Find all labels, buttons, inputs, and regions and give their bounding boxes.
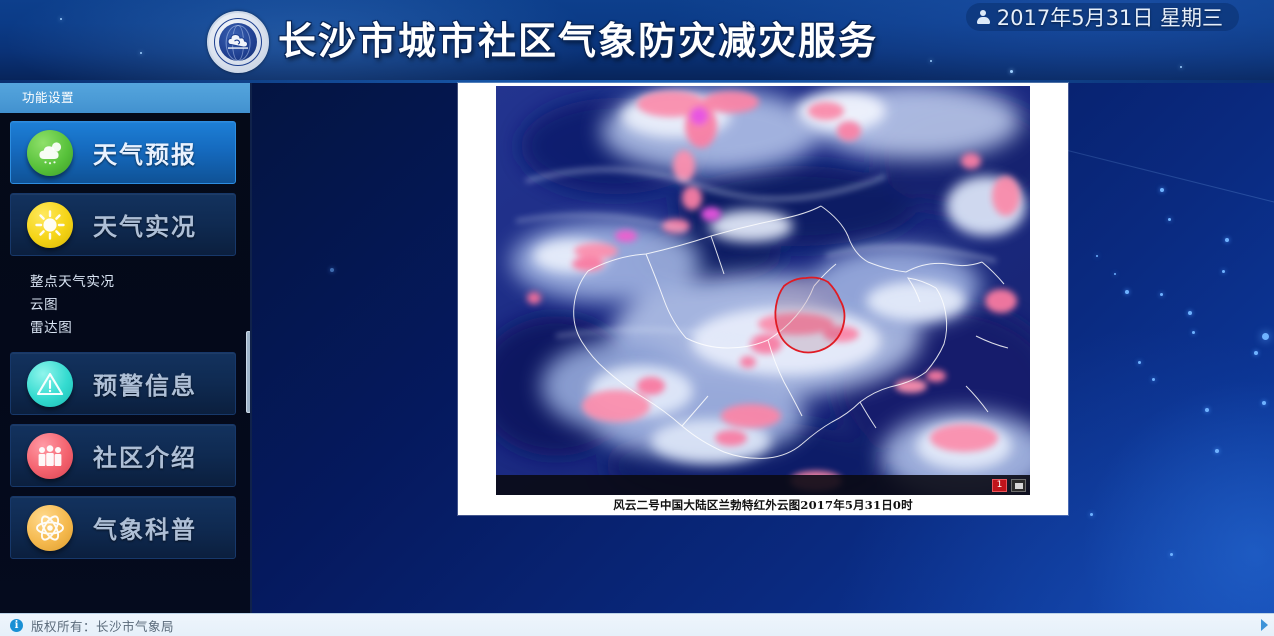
sidebar-subitem-hourly-observation[interactable]: 整点天气实况: [0, 271, 250, 294]
sidebar: 功能设置 天气预报: [0, 83, 252, 613]
people-icon: [27, 433, 73, 479]
application-root: 长沙市城市社区气象防灾减灾服务 2017年5月31日 星期三: [0, 0, 1274, 636]
counter-badge[interactable]: 1: [992, 479, 1007, 492]
sidebar-menu: 天气预报: [0, 113, 250, 559]
user-icon: [977, 10, 990, 25]
satellite-cloud-image: [496, 86, 1030, 495]
atom-icon: [27, 505, 73, 551]
sidebar-item-science-popularization[interactable]: 气象科普: [10, 496, 236, 559]
app-header: 长沙市城市社区气象防灾减灾服务 2017年5月31日 星期三: [0, 0, 1274, 83]
sidebar-item-label: 预警信息: [93, 366, 197, 401]
warning-triangle-icon: [27, 361, 73, 407]
chevron-right-icon[interactable]: [1261, 619, 1268, 631]
sidebar-subitem-radar-map[interactable]: 雷达图: [0, 317, 250, 340]
screen-badge[interactable]: [1011, 479, 1026, 492]
sidebar-panel-title: 功能设置: [0, 83, 252, 113]
content-panel: 1 风云二号中国大陆区兰勃特红外云图2017年5月31日0时: [458, 83, 1068, 515]
sidebar-item-warning-info[interactable]: 预警信息: [10, 352, 236, 415]
sidebar-item-label: 气象科普: [93, 510, 197, 545]
sidebar-item-community-intro[interactable]: 社区介绍: [10, 424, 236, 487]
sidebar-item-weather-forecast[interactable]: 天气预报: [10, 121, 236, 184]
cma-emblem-icon: [207, 11, 269, 73]
image-overlay-badges: 1: [992, 479, 1026, 492]
date-badge: 2017年5月31日 星期三: [966, 3, 1239, 31]
sidebar-submenu-weather-live: 整点天气实况 云图 雷达图: [0, 265, 250, 343]
image-caption: 风云二号中国大陆区兰勃特红外云图2017年5月31日0时: [458, 497, 1068, 513]
sidebar-item-label: 天气预报: [93, 135, 197, 170]
current-date-text: 2017年5月31日 星期三: [997, 2, 1223, 32]
page-title: 长沙市城市社区气象防灾减灾服务: [278, 14, 878, 68]
info-icon: i: [10, 619, 23, 632]
app-footer: i 版权所有：长沙市气象局: [0, 613, 1274, 636]
fengyun-2-infrared-cloud-map[interactable]: 1: [496, 86, 1030, 495]
submenu-scrollbar[interactable]: [246, 331, 251, 413]
sidebar-item-label: 天气实况: [93, 207, 197, 242]
cloud-sun-icon: [27, 130, 73, 176]
sidebar-item-label: 社区介绍: [93, 438, 197, 473]
sidebar-subitem-cloud-map[interactable]: 云图: [0, 294, 250, 317]
sidebar-item-weather-live[interactable]: 天气实况: [10, 193, 236, 256]
cloud-swirl-icon: [225, 31, 251, 53]
sun-icon: [27, 202, 73, 248]
copyright-text: 版权所有：长沙市气象局: [31, 616, 174, 635]
